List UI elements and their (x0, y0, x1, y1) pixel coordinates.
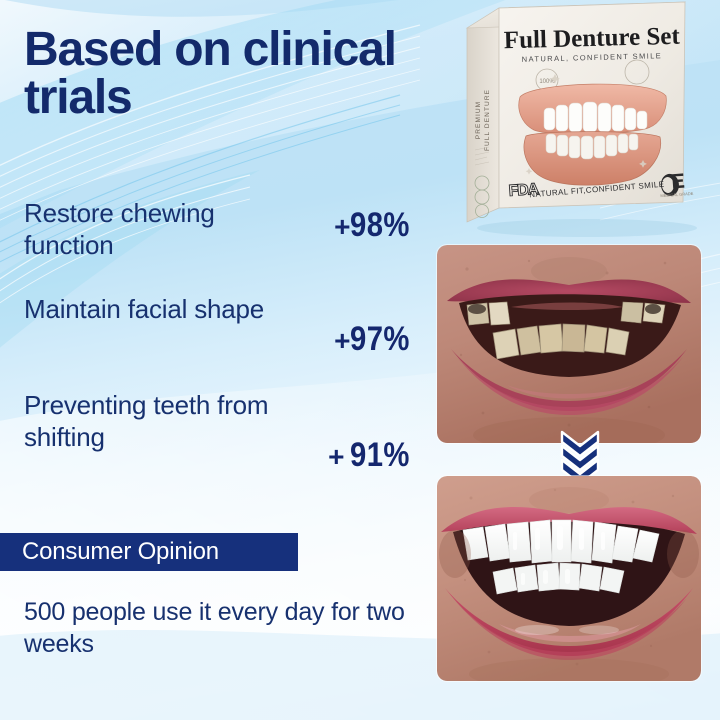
after-photo (437, 476, 701, 681)
product-box-image: PREMIUM FULL DENTURE Full Denture Set NA… (437, 0, 720, 240)
consumer-opinion-label: Consumer Opinion (22, 538, 219, 566)
benefit-value: 91% (350, 436, 410, 475)
page-title: Based on clinical trials (24, 26, 444, 121)
before-photo (437, 245, 701, 443)
benefit-value: 98% (350, 206, 410, 245)
consumer-opinion-body: 500 people use it every day for two week… (24, 596, 424, 660)
benefit-row: Preventing teeth from shifting +91% (24, 390, 424, 486)
benefit-row: Restore chewing function +98% (24, 198, 424, 294)
svg-text:FDA: FDA (508, 181, 540, 200)
benefit-label: Maintain facial shape (24, 294, 292, 326)
headline-line-1: Based on clinical (24, 26, 444, 74)
benefit-label: Preventing teeth from shifting (24, 390, 292, 453)
consumer-opinion-banner: Consumer Opinion (0, 533, 298, 571)
fda-mark: FDA (508, 181, 540, 200)
plus-sign: + (328, 441, 344, 472)
triple-chevron-down-icon (556, 430, 604, 482)
box-side-line-2: FULL DENTURE (484, 89, 491, 151)
headline-line-2: trials (24, 74, 444, 122)
benefit-percentage: +98% (334, 206, 420, 245)
benefit-label: Restore chewing function (24, 198, 292, 261)
benefits-list: Restore chewing function +98% Maintain f… (24, 198, 424, 486)
plus-sign: + (334, 211, 350, 242)
benefit-row: Maintain facial shape +97% (24, 294, 424, 390)
box-side-line-1: PREMIUM (475, 101, 482, 139)
advertisement-poster: Based on clinical trials Restore chewing… (0, 0, 720, 720)
box-title: Full Denture Set (504, 23, 681, 55)
benefit-value: 97% (350, 320, 410, 359)
benefit-percentage: +97% (334, 320, 420, 359)
plus-sign: + (334, 325, 350, 356)
benefit-percentage: +91% (328, 436, 420, 475)
